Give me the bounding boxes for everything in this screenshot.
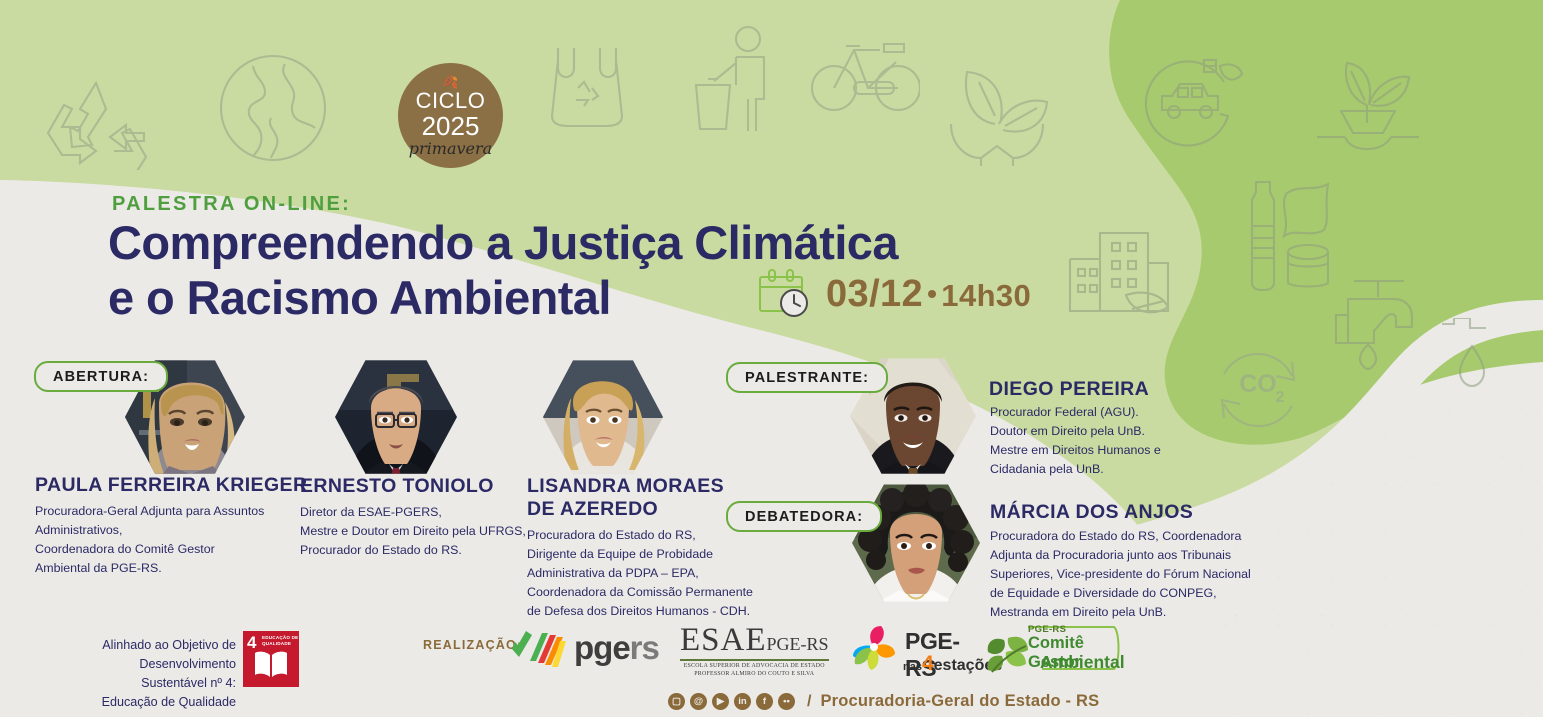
- esae-rule: [680, 659, 829, 661]
- pgers-logo: pgers: [508, 627, 659, 669]
- pgers-word-dark: pge: [574, 629, 630, 666]
- social-handle: Procuradoria-Geral do Estado - RS: [820, 692, 1099, 711]
- water-drop-icon: [1440, 318, 1500, 388]
- person-name-paula: PAULA FERREIRA KRIEGER: [35, 474, 307, 497]
- youtube-icon[interactable]: ▶: [712, 693, 729, 710]
- pinwheel-icon: [845, 624, 903, 674]
- event-time: 14h30: [941, 278, 1031, 313]
- person-desc-paula: Procuradora-Geral Adjunta para Assuntos …: [35, 502, 264, 578]
- pgers-wordmark: pgers: [574, 629, 659, 667]
- esae-main-small: PGE-RS: [767, 634, 829, 654]
- bicycle-icon: [810, 28, 920, 118]
- date-time-block: 03/12•14h30: [758, 268, 1031, 320]
- ods-text: Alinhado ao Objetivo de Desenvolvimento …: [88, 636, 236, 712]
- role-badge-abertura: ABERTURA:: [34, 361, 168, 392]
- building-leaf-icon: [1068, 215, 1178, 320]
- person-name-ernesto: ERNESTO TONIOLO: [300, 475, 494, 498]
- threads-icon[interactable]: @: [690, 693, 707, 710]
- role-badge-palestrante: PALESTRANTE:: [726, 362, 888, 393]
- hands-leaves-icon: [945, 62, 1050, 167]
- facebook-icon[interactable]: f: [756, 693, 773, 710]
- comite-gestor-ambiental-logo: PGE-RS Comitê Gestor Ambiental: [988, 624, 1113, 676]
- comite-line2: Ambiental: [1040, 652, 1125, 673]
- person-desc-marcia: Procuradora do Estado do RS, Coordenador…: [990, 527, 1251, 622]
- pge-rs-4-estacoes-logo: PGE-RS nas4estações: [845, 624, 970, 674]
- date-text: 03/12•14h30: [826, 273, 1031, 316]
- estacoes-four: 4: [922, 652, 934, 675]
- person-name-lisandra: LISANDRA MORAES DE AZEREDO: [527, 475, 724, 521]
- person-trash-icon: [690, 25, 785, 135]
- eco-car-icon: [1138, 52, 1243, 152]
- esae-logo: ESAEPGE-RS ESCOLA SUPERIOR DE ADVOCACIA …: [680, 624, 829, 679]
- recycle-arrows-icon: [40, 75, 150, 170]
- instagram-icon[interactable]: ▢: [668, 693, 685, 710]
- role-badge-debatedora: DEBATEDORA:: [726, 501, 882, 532]
- pgers-stripes-icon: [508, 627, 566, 669]
- ods-4-badge: 4 EDUCAÇÃO DE QUALIDADE: [243, 631, 299, 687]
- esae-subtitle: ESCOLA SUPERIOR DE ADVOCACIA DE ESTADO P…: [680, 663, 829, 679]
- calendar-clock-icon: [758, 268, 814, 320]
- person-desc-lisandra: Procuradora do Estado do RS, Dirigente d…: [527, 526, 753, 621]
- plastic-bag-recycle-icon: [548, 38, 628, 130]
- pgers-word-light: rs: [630, 629, 659, 666]
- globe-icon: [213, 48, 333, 168]
- linkedin-icon[interactable]: in: [734, 693, 751, 710]
- estacoes-nas: nas: [903, 661, 922, 673]
- kicker-label: PALESTRA ON-LINE:: [112, 193, 351, 216]
- social-bar: ▢ @ ▶ in f •• / Procuradoria-Geral do Es…: [668, 692, 1099, 711]
- ods-label: EDUCAÇÃO DE QUALIDADE: [262, 635, 298, 646]
- esae-wordmark: ESAEPGE-RS: [680, 624, 829, 657]
- svg-text:CO: CO: [1239, 370, 1277, 398]
- event-date: 03/12: [826, 273, 923, 315]
- water-tap-icon: [1320, 275, 1430, 370]
- person-desc-ernesto: Diretor da ESAE-PGERS, Mestre e Doutor e…: [300, 503, 526, 560]
- sprout-pot-icon: [1315, 55, 1420, 150]
- ciclo-badge: 🍂 CICLO 2025 primavera: [398, 63, 503, 168]
- date-separator: •: [927, 278, 937, 309]
- open-book-icon: [252, 649, 290, 683]
- person-desc-diego: Procurador Federal (AGU). Doutor em Dire…: [990, 403, 1161, 479]
- ciclo-line3: primavera: [409, 141, 492, 157]
- ciclo-line1: CICLO: [416, 90, 486, 112]
- flickr-icon[interactable]: ••: [778, 693, 795, 710]
- co2-cycle-icon: CO 2: [1208, 340, 1308, 440]
- svg-text:2: 2: [1276, 389, 1285, 406]
- social-separator: /: [807, 693, 811, 711]
- leaf-icon: 🍂: [442, 75, 458, 88]
- ciclo-line2: 2025: [422, 113, 480, 139]
- person-name-diego: DIEGO PEREIRA: [989, 378, 1149, 401]
- person-name-marcia: MÁRCIA DOS ANJOS: [990, 501, 1193, 524]
- event-poster: CO 2 🍂 CICLO 2025 primavera PALESTRA ON-…: [0, 0, 1543, 717]
- esae-main: ESAE: [680, 622, 767, 658]
